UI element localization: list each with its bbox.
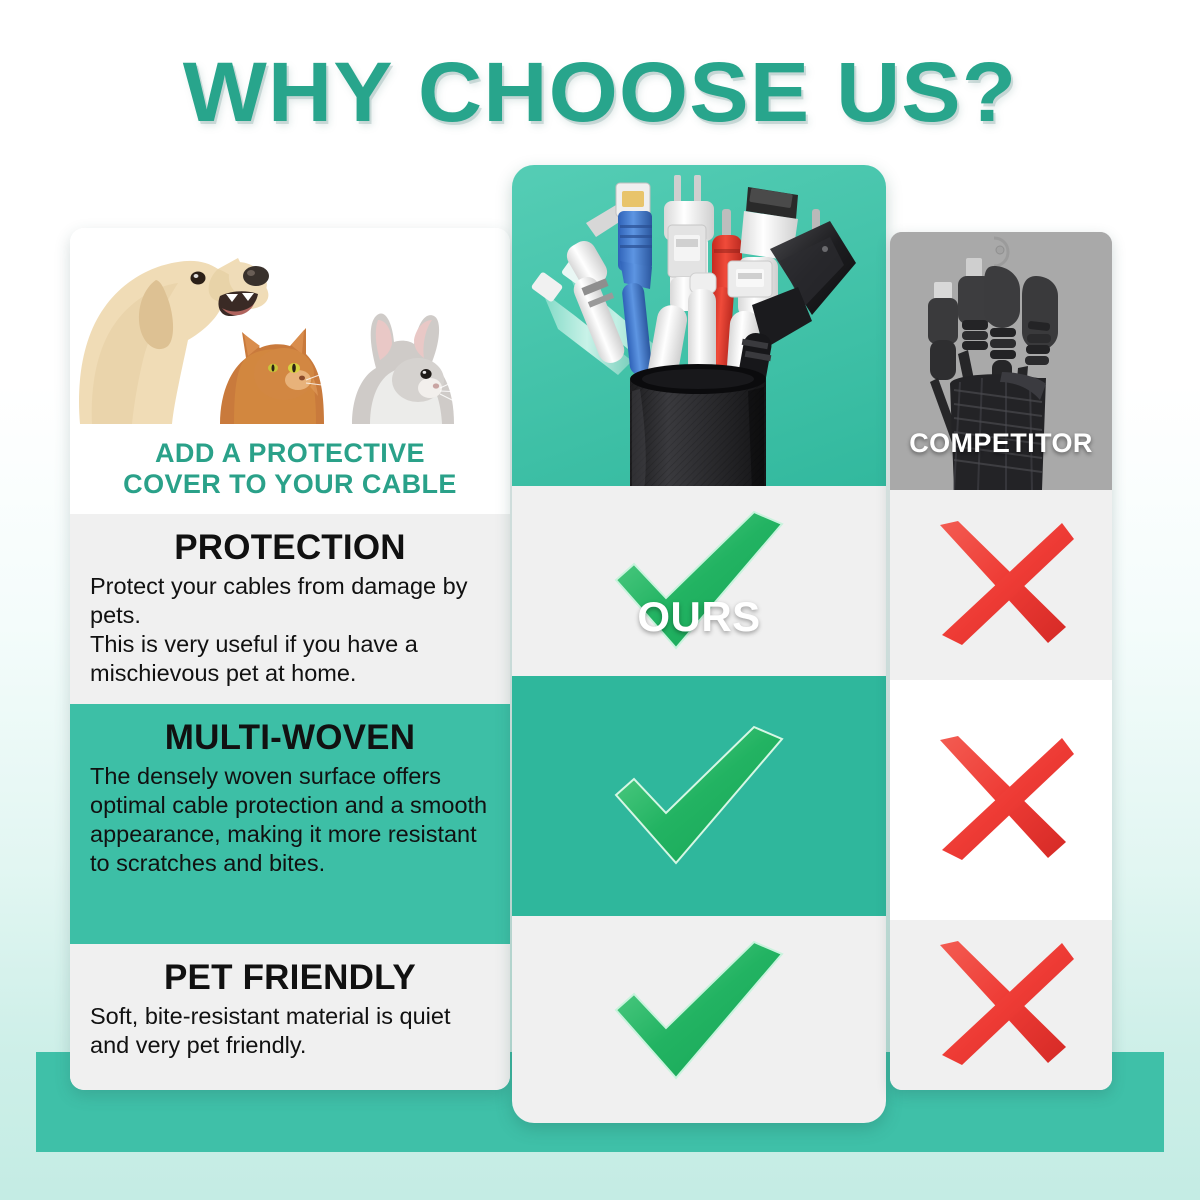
feature-heading-2: PET FRIENDLY bbox=[88, 944, 492, 1000]
cross-icon-2 bbox=[890, 920, 1112, 1090]
page-title: WHY CHOOSE US? bbox=[0, 46, 1200, 138]
competitor-column: COMPETITOR bbox=[890, 232, 1112, 1090]
competitor-cell-0 bbox=[890, 490, 1112, 680]
feature-heading-0: PROTECTION bbox=[88, 514, 492, 570]
ours-cell-0 bbox=[512, 486, 886, 676]
check-icon-2 bbox=[512, 916, 886, 1106]
headline-line-1: ADD A PROTECTIVE bbox=[123, 438, 457, 469]
ours-column: OURS bbox=[512, 165, 886, 1123]
feature-row-1: MULTI-WOVEN The densely woven surface of… bbox=[70, 704, 510, 944]
competitor-column-label: COMPETITOR bbox=[890, 428, 1112, 459]
headline-line-2: COVER TO YOUR CABLE bbox=[123, 469, 457, 500]
cross-icon-1 bbox=[890, 680, 1112, 920]
left-feature-card: ADD A PROTECTIVE COVER TO YOUR CABLE PRO… bbox=[70, 228, 510, 1090]
feature-heading-1: MULTI-WOVEN bbox=[88, 704, 492, 760]
pets-illustration bbox=[70, 228, 510, 424]
competitor-cell-1 bbox=[890, 680, 1112, 920]
feature-body-0: Protect your cables from damage by pets.… bbox=[88, 570, 492, 698]
feature-row-0: PROTECTION Protect your cables from dama… bbox=[70, 514, 510, 704]
competitor-cell-2 bbox=[890, 920, 1112, 1090]
left-card-headline: ADD A PROTECTIVE COVER TO YOUR CABLE bbox=[70, 424, 510, 514]
black-braided-sleeve bbox=[630, 364, 766, 490]
cable-sleeve-with-connectors-illustration bbox=[512, 165, 886, 490]
cross-icon-0 bbox=[890, 490, 1112, 680]
infographic-root: WHY CHOOSE US? bbox=[0, 0, 1200, 1200]
ours-product-photo bbox=[512, 165, 886, 490]
feature-body-2: Soft, bite-resistant material is quiet a… bbox=[88, 1000, 492, 1070]
ours-cell-2 bbox=[512, 916, 886, 1123]
check-icon-1 bbox=[512, 676, 886, 916]
ours-column-label: OURS bbox=[512, 593, 886, 641]
pets-photo bbox=[70, 228, 510, 424]
check-icon-0 bbox=[512, 486, 886, 676]
feature-row-2: PET FRIENDLY Soft, bite-resistant materi… bbox=[70, 944, 510, 1090]
feature-body-1: The densely woven surface offers optimal… bbox=[88, 760, 492, 888]
ours-cell-1 bbox=[512, 676, 886, 916]
usb-a-connector-2 bbox=[728, 261, 772, 297]
